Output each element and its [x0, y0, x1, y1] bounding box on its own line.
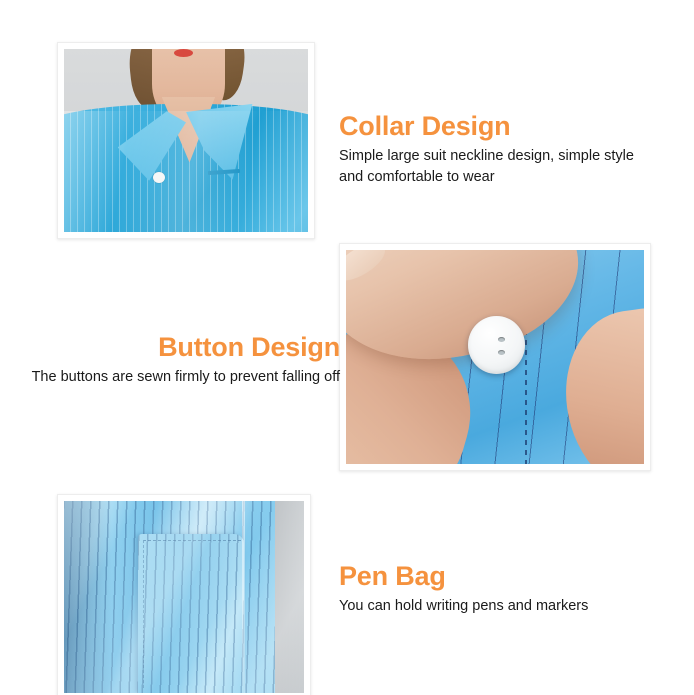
feature-text-pen-bag: Pen Bag You can hold writing pens and ma…	[339, 562, 669, 617]
feature-title-collar: Collar Design	[339, 112, 659, 141]
button-hole-bottom	[498, 350, 505, 355]
feature-description-button: The buttons are sewn firmly to prevent f…	[20, 367, 340, 388]
feature-description-collar: Simple large suit neckline design, simpl…	[339, 146, 659, 187]
pen-bag-photo	[64, 501, 304, 693]
fabric-sheen-overlay	[64, 501, 304, 693]
button-photo	[346, 250, 644, 464]
feature-text-button: Button Design The buttons are sewn firml…	[20, 333, 340, 388]
white-shirt-button	[468, 316, 525, 374]
feature-image-button	[339, 243, 651, 471]
button-hole-top	[498, 337, 505, 342]
feature-text-collar: Collar Design Simple large suit neckline…	[339, 112, 659, 187]
product-feature-page: Collar Design Simple large suit neckline…	[0, 0, 694, 695]
collar-photo	[64, 49, 308, 232]
feature-description-pen-bag: You can hold writing pens and markers	[339, 596, 669, 617]
feature-title-button: Button Design	[20, 333, 340, 362]
fabric-sheen-overlay	[64, 111, 308, 232]
thumbnail	[346, 250, 391, 287]
feature-image-pen-bag	[57, 494, 311, 695]
feature-image-collar	[57, 42, 315, 239]
feature-title-pen-bag: Pen Bag	[339, 562, 669, 591]
